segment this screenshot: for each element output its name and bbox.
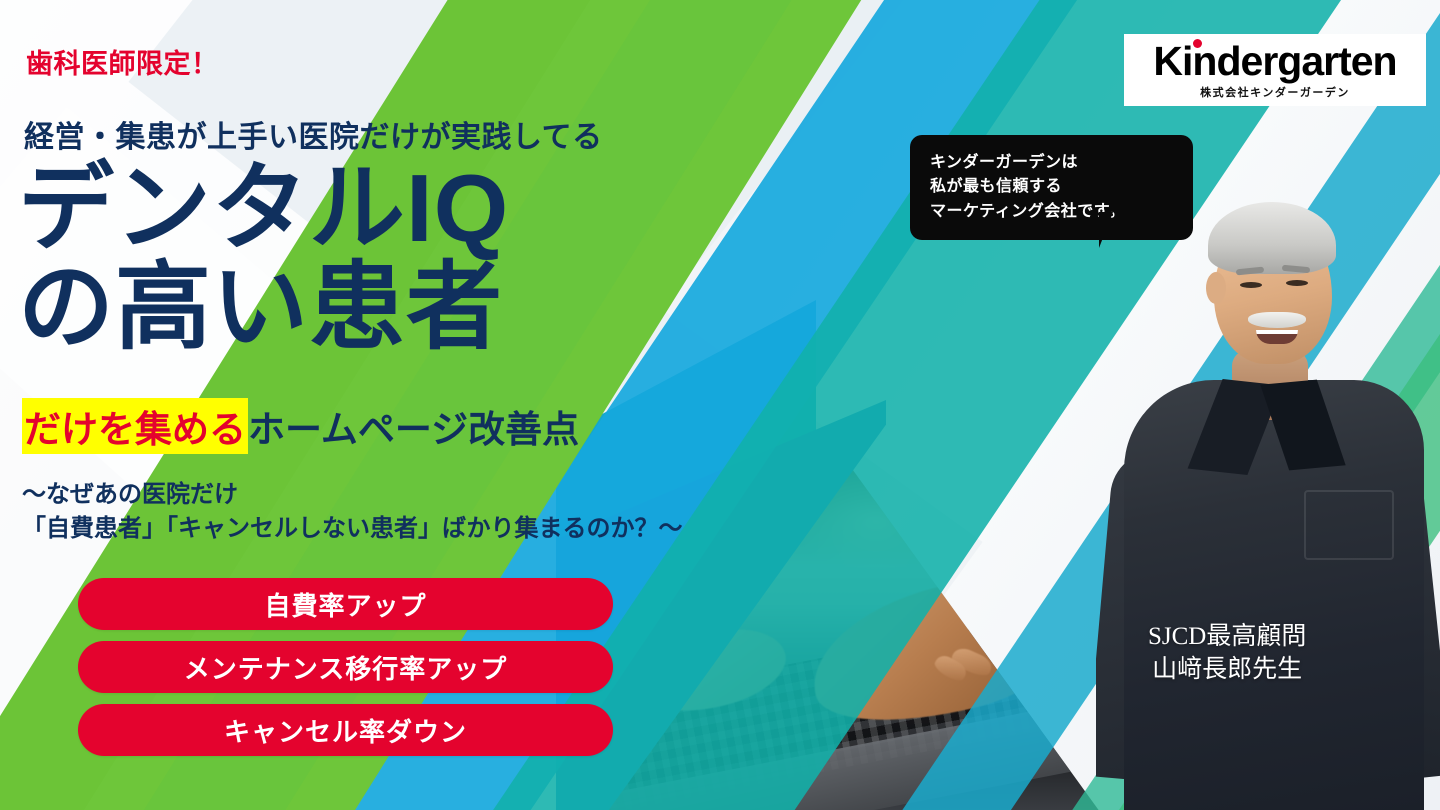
hero-banner: SJCD最高顧問 山﨑長郎先生 Kindergarten 株式会社キンダーガーデ… <box>0 0 1440 810</box>
benefit-pill[interactable]: メンテナンス移行率アップ <box>78 641 613 693</box>
logo-wordmark-text: Kindergarten <box>1153 38 1396 84</box>
testimonial-bubble-tail <box>1099 212 1123 248</box>
person-portrait <box>1096 150 1440 810</box>
logo-dot-icon <box>1193 39 1202 48</box>
testimonial-bubble: キンダーガーデンは 私が最も信頼する マーケティング会社です。 <box>910 135 1193 240</box>
hair-shape <box>1208 202 1336 274</box>
torso-shape <box>1124 380 1424 810</box>
shirt-pocket-shape <box>1304 490 1394 560</box>
hero-kicker: 歯科医師限定！ <box>26 42 219 81</box>
moustache-shape <box>1248 312 1306 328</box>
eye-shape <box>1240 282 1262 288</box>
ear-shape <box>1206 272 1226 304</box>
hero-lede: 〜なぜあの医院だけ 「自費患者」「キャンセルしない患者」ばかり集まるのか？〜 <box>22 478 682 546</box>
hero-subheading: 経営・集患が上手い医院だけが実践してる <box>24 112 603 156</box>
hero-highlight-tail: ホームページ改善点 <box>248 399 579 453</box>
person-caption: SJCD最高顧問 山﨑長郎先生 <box>1148 620 1306 687</box>
hero-content: 歯科医師限定！ 経営・集患が上手い医院だけが実践してる デンタルIQ の高い患者… <box>0 0 780 810</box>
benefit-list: 自費率アップ メンテナンス移行率アップ キャンセル率ダウン <box>78 578 613 767</box>
logo-wordmark: Kindergarten <box>1153 41 1396 82</box>
company-logo[interactable]: Kindergarten 株式会社キンダーガーデン <box>1124 34 1426 106</box>
hero-highlight-mark: だけを集める <box>22 398 248 454</box>
benefit-pill[interactable]: 自費率アップ <box>78 578 613 630</box>
hero-title: デンタルIQ の高い患者 <box>18 160 509 358</box>
benefit-pill[interactable]: キャンセル率ダウン <box>78 704 613 756</box>
logo-company-name: 株式会社キンダーガーデン <box>1200 84 1350 100</box>
hero-highlight-row: だけを集める ホームページ改善点 <box>22 398 579 454</box>
eye-shape <box>1286 280 1308 286</box>
finger-shape <box>993 640 1035 669</box>
